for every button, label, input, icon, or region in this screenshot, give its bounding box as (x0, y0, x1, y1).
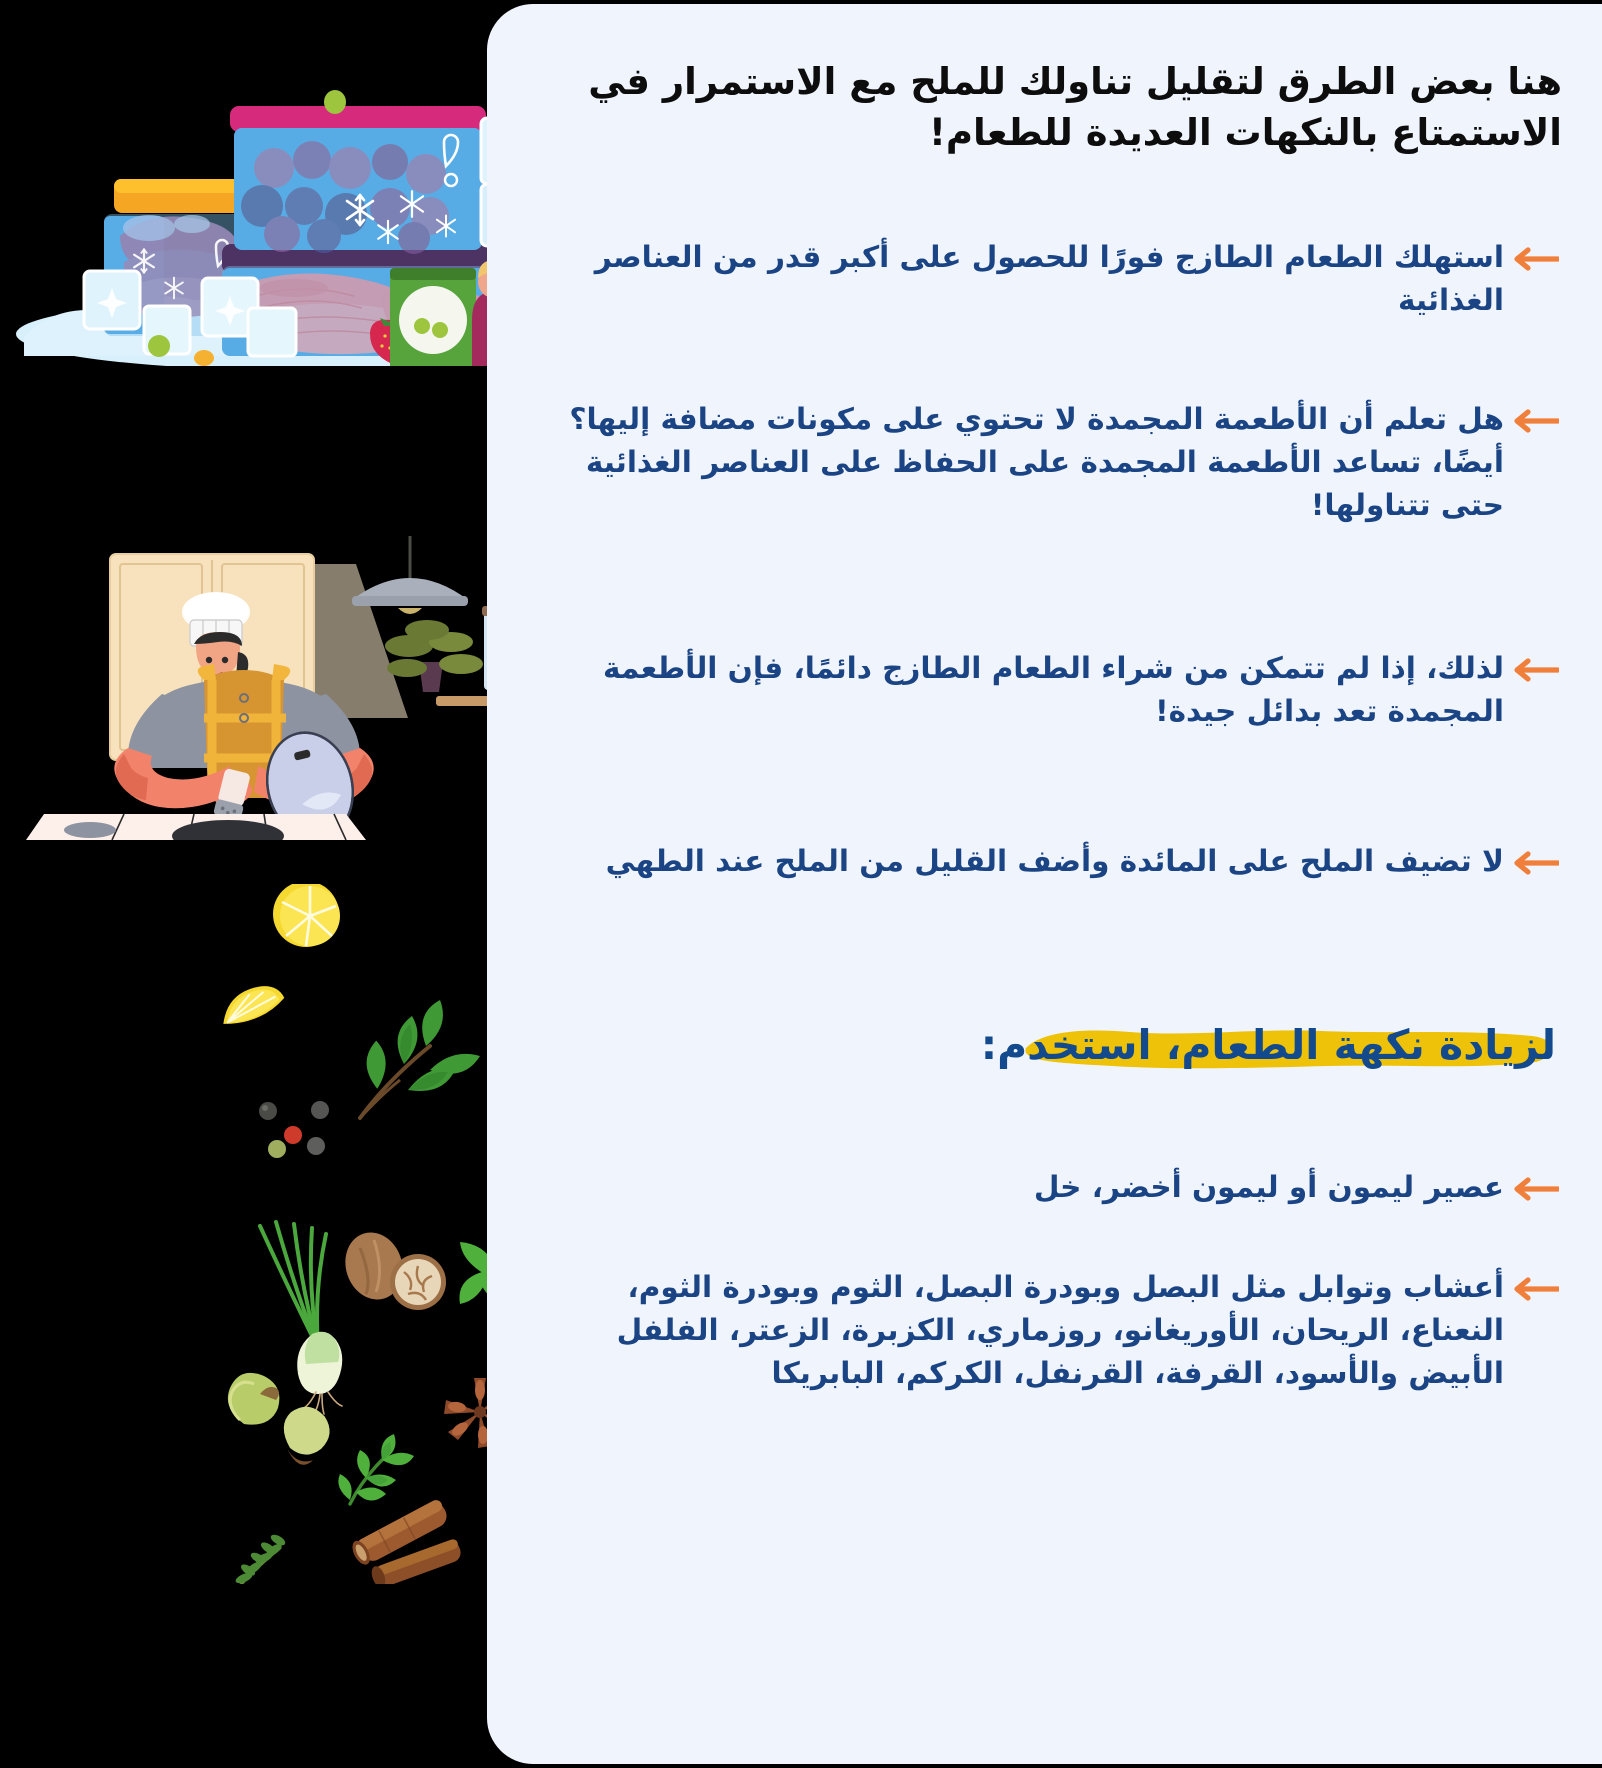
bullet-text-no-table-salt: لا تضيف الملح على المائدة وأضف القليل من… (556, 840, 1504, 883)
bullet-frozen-alternative: لذلك، إذا لم تتمكن من شراء الطعام الطازج… (556, 647, 1566, 733)
left-arrow-icon (1504, 840, 1566, 876)
section-heading: لزيادة نكهة الطعام، استخدم: (971, 1018, 1566, 1075)
bullet-citrus-vinegar: عصير ليمون أو ليمون أخضر، خل (556, 1166, 1566, 1209)
bullet-herbs-spices: أعشاب وتوابل مثل البصل وبودرة البصل، الث… (556, 1266, 1566, 1395)
section-heading-text: لزيادة نكهة الطعام، استخدم: (981, 1021, 1556, 1069)
left-arrow-icon (1504, 647, 1566, 683)
bullet-text-frozen-alternative: لذلك، إذا لم تتمكن من شراء الطعام الطازج… (556, 647, 1504, 733)
infographic-root: هنا بعض الطرق لتقليل تناولك للملح مع الا… (0, 0, 1602, 1768)
bullet-text-herbs-spices: أعشاب وتوابل مثل البصل وبودرة البصل، الث… (556, 1266, 1504, 1395)
left-arrow-icon (1504, 398, 1566, 434)
left-arrow-icon (1504, 236, 1566, 272)
bullet-no-table-salt: لا تضيف الملح على المائدة وأضف القليل من… (556, 840, 1566, 883)
bullet-fresh-food: استهلك الطعام الطازج فورًا للحصول على أك… (556, 236, 1566, 322)
bullet-text-frozen-no-additives: هل تعلم أن الأطعمة المجمدة لا تحتوي على … (556, 398, 1504, 527)
bullet-frozen-no-additives: هل تعلم أن الأطعمة المجمدة لا تحتوي على … (556, 398, 1566, 527)
content-card: هنا بعض الطرق لتقليل تناولك للملح مع الا… (487, 4, 1602, 1764)
herbs-and-spices-illustration (180, 884, 540, 1584)
left-arrow-icon (1504, 1166, 1566, 1202)
section-heading-wrap: لزيادة نكهة الطعام، استخدم: (556, 1018, 1566, 1075)
bullet-text-fresh-food: استهلك الطعام الطازج فورًا للحصول على أك… (556, 236, 1504, 322)
bullet-text-citrus-vinegar: عصير ليمون أو ليمون أخضر، خل (556, 1166, 1504, 1209)
page-title: هنا بعض الطرق لتقليل تناولك للملح مع الا… (533, 40, 1568, 158)
left-arrow-icon (1504, 1266, 1566, 1302)
